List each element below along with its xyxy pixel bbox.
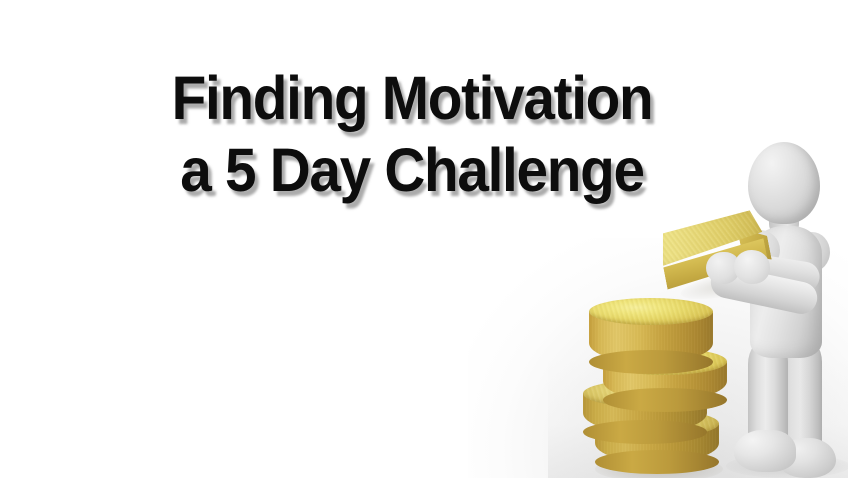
gold-coin-top (589, 298, 713, 376)
gold-coin-top-rim (589, 350, 713, 374)
image-canvas: Finding Motivation a 5 Day Challenge (0, 0, 848, 478)
gold-coin-lower-middle-rim (583, 420, 707, 444)
mannequin-figure-foreground (700, 142, 848, 478)
headline-line-1: Finding Motivation (127, 62, 696, 134)
headline-line-2: a 5 Day Challenge (127, 134, 696, 206)
gold-coin-top-face (589, 298, 713, 325)
headline-block: Finding Motivation a 5 Day Challenge (106, 62, 718, 206)
figure-hand-near (734, 250, 770, 284)
